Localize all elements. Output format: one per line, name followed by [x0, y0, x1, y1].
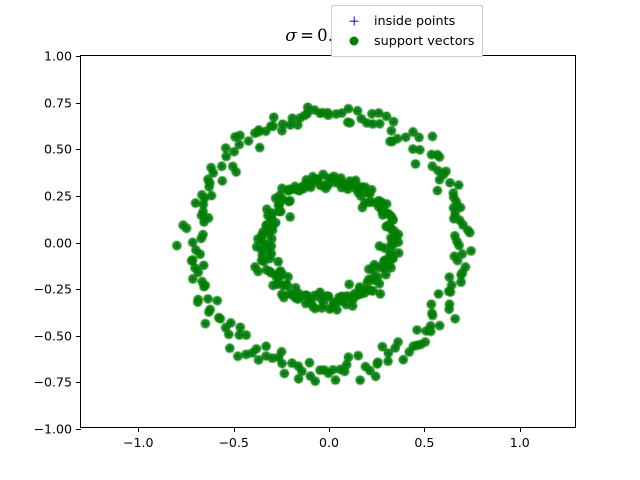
matplotlib-figure: σ=0.01 −1.00−0.75−0.50−0.250.000.250.500… — [0, 0, 640, 480]
x-tick-mark — [424, 427, 425, 432]
x-tick-label: 1.0 — [510, 435, 530, 450]
x-tick-mark — [520, 427, 521, 432]
circle-icon — [339, 31, 369, 51]
legend-label-inside-points: inside points — [369, 14, 455, 29]
y-tick-mark — [76, 429, 81, 430]
legend-entry-support-vectors: support vectors — [339, 31, 474, 51]
plot-axes: −1.00−0.75−0.50−0.250.000.250.500.751.00… — [80, 55, 576, 428]
y-tick-mark — [76, 56, 81, 57]
y-tick-mark — [76, 243, 81, 244]
y-tick-label: 0.75 — [44, 95, 72, 110]
y-tick-label: −0.25 — [33, 282, 72, 297]
x-tick-mark — [138, 427, 139, 432]
y-tick-label: −0.50 — [33, 328, 72, 343]
y-tick-mark — [76, 149, 81, 150]
y-tick-label: 0.50 — [44, 142, 72, 157]
plot-legend: inside points support vectors — [331, 5, 483, 57]
y-tick-mark — [76, 382, 81, 383]
scatter-plot-canvas — [81, 56, 575, 427]
x-tick-label: 0.5 — [414, 435, 434, 450]
y-tick-mark — [76, 103, 81, 104]
title-sigma-symbol: σ — [285, 26, 297, 46]
legend-entry-inside-points: inside points — [339, 11, 474, 31]
y-tick-mark — [76, 196, 81, 197]
y-tick-mark — [76, 289, 81, 290]
x-tick-label: −0.5 — [218, 435, 249, 450]
x-tick-label: 0.0 — [319, 435, 339, 450]
plot-title: σ=0.01 — [0, 26, 640, 46]
x-tick-mark — [329, 427, 330, 432]
y-tick-mark — [76, 336, 81, 337]
y-tick-label: −0.75 — [33, 375, 72, 390]
y-tick-label: −1.00 — [33, 422, 72, 437]
x-tick-mark — [234, 427, 235, 432]
y-tick-label: 0.25 — [44, 188, 72, 203]
legend-label-support-vectors: support vectors — [369, 34, 474, 49]
y-tick-label: 1.00 — [44, 49, 72, 64]
y-tick-label: 0.00 — [44, 235, 72, 250]
title-equals-operator: = — [297, 26, 317, 45]
x-tick-label: −1.0 — [123, 435, 154, 450]
plus-icon — [339, 11, 369, 31]
